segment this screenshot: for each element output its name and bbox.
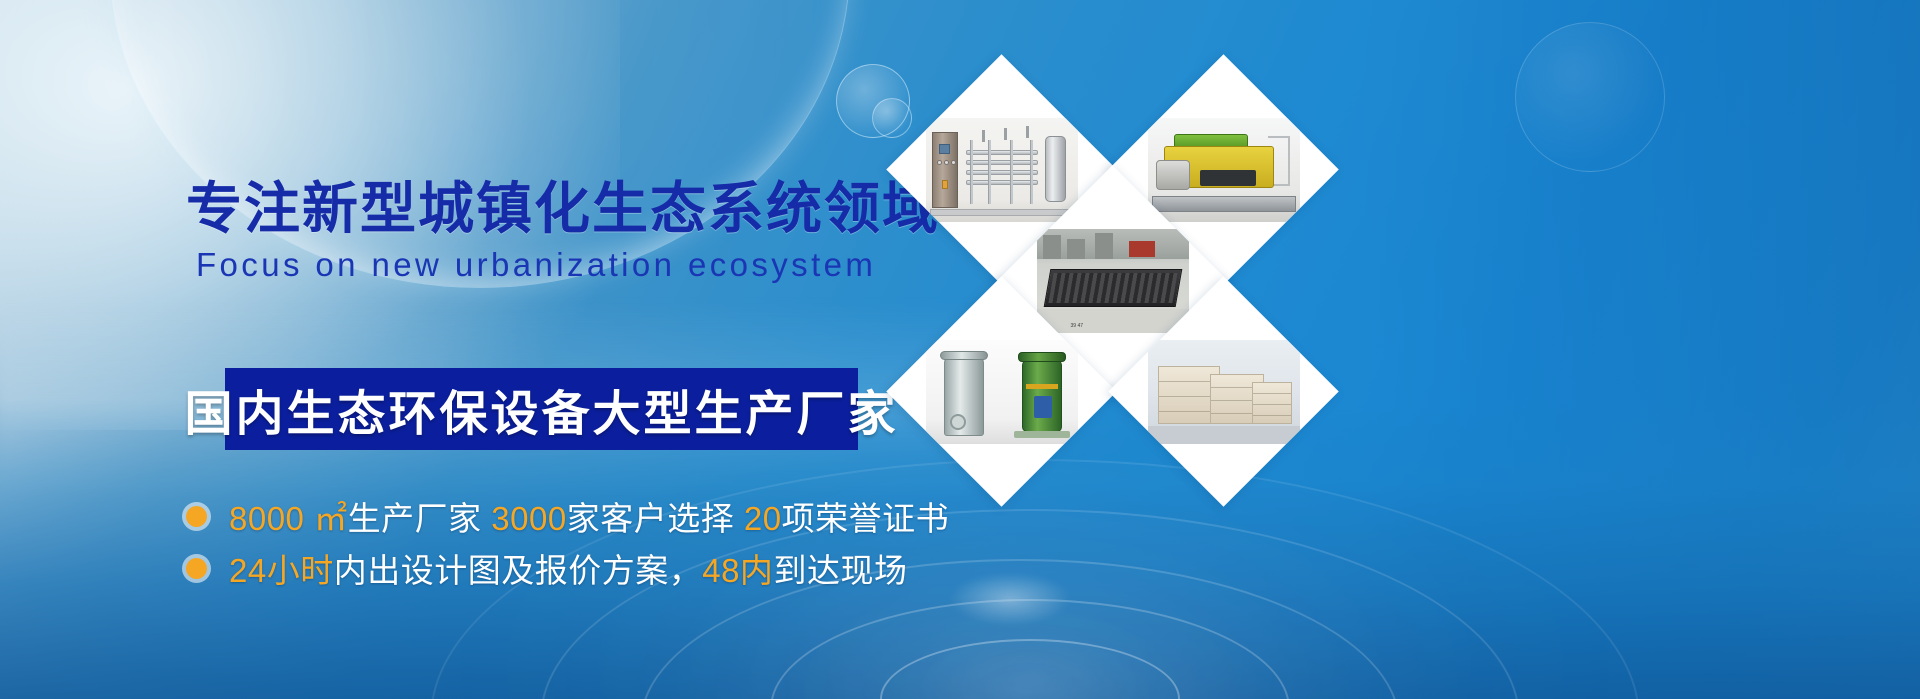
photo-water-treatment-skid xyxy=(926,118,1078,222)
promo-banner: 专注新型城镇化生态系统领域 Focus on new urbanization … xyxy=(0,0,1920,699)
plain-text: 内出设计图及报价方案， xyxy=(334,552,703,589)
accent-text: 48内 xyxy=(702,552,773,589)
plain-text: 家客户选择 xyxy=(567,500,744,537)
list-item: 8000 ㎡生产厂家 3000家客户选择 20项荣誉证书 xyxy=(186,490,946,542)
highlight-ribbon-text: 国内生态环保设备大型生产厂家 xyxy=(185,374,899,444)
page-subtitle: Focus on new urbanization ecosystem xyxy=(196,245,916,285)
accent-text: ㎡ xyxy=(314,500,348,537)
photo-yellow-machinery xyxy=(1148,118,1300,222)
feature-text-1: 8000 ㎡生产厂家 3000家客户选择 20项荣誉证书 xyxy=(229,492,949,540)
bullet-dot-icon xyxy=(186,558,207,579)
plain-text: 生产厂家 xyxy=(348,500,492,537)
accent-text: 3000 xyxy=(491,500,566,537)
photo-vertical-tanks xyxy=(926,340,1078,444)
list-item: 24小时内出设计图及报价方案，48内到达现场 xyxy=(186,542,946,594)
page-title: 专注新型城镇化生态系统领域 xyxy=(186,178,886,241)
feature-list: 8000 ㎡生产厂家 3000家客户选择 20项荣誉证书 24小时内出设计图及报… xyxy=(186,490,946,594)
photo-aerated-blocks xyxy=(1148,340,1300,444)
product-diamond-gallery: 39 47 xyxy=(880,40,1350,520)
plain-text: 到达现场 xyxy=(773,552,907,589)
photo-filter-plate: 39 47 xyxy=(1037,229,1189,333)
bullet-dot-icon xyxy=(186,506,207,527)
highlight-ribbon: 国内生态环保设备大型生产厂家 xyxy=(225,368,858,450)
copy-column: 专注新型城镇化生态系统领域 Focus on new urbanization … xyxy=(0,0,920,699)
accent-text: 24小时 xyxy=(229,552,334,589)
water-splash-highlight xyxy=(950,573,1070,625)
feature-text-2: 24小时内出设计图及报价方案，48内到达现场 xyxy=(229,544,907,592)
accent-text: 8000 xyxy=(229,500,314,537)
accent-text: 20 xyxy=(744,500,782,537)
